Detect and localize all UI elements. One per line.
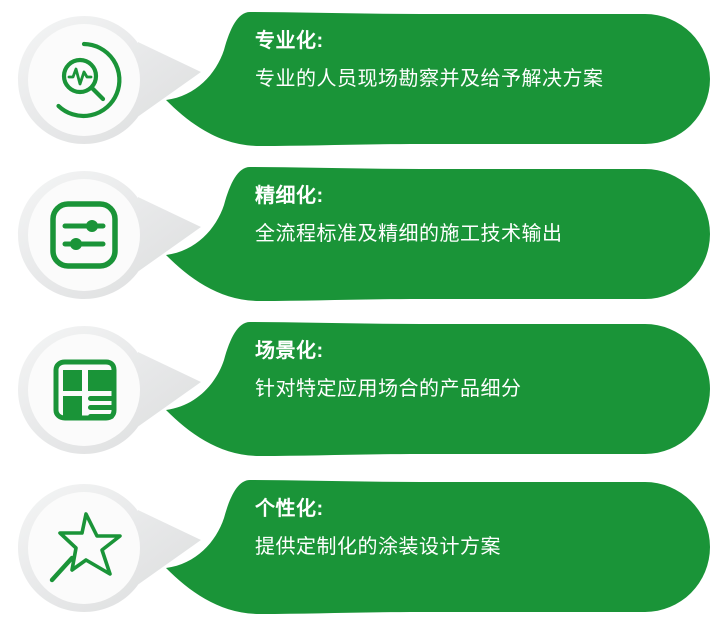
feature-text: 专业化: 专业的人员现场勘察并及给予解决方案 [255, 26, 695, 96]
feature-item-personalization[interactable]: 个性化: 提供定制化的涂装设计方案 [0, 472, 720, 622]
feature-title: 精细化: [255, 181, 695, 211]
magnifier-pulse-icon [42, 38, 126, 122]
feature-bubble: 个性化: 提供定制化的涂装设计方案 [160, 472, 720, 622]
feature-text: 个性化: 提供定制化的涂装设计方案 [255, 494, 695, 564]
layout-grid-icon [42, 348, 126, 432]
sliders-settings-icon [42, 193, 126, 277]
feature-bubble: 精细化: 全流程标准及精细的施工技术输出 [160, 159, 720, 309]
feature-description: 提供定制化的涂装设计方案 [255, 530, 695, 564]
features-infographic: 专业化: 专业的人员现场勘察并及给予解决方案 [0, 0, 720, 630]
magic-wand-star-icon [42, 506, 126, 590]
feature-description: 全流程标准及精细的施工技术输出 [255, 217, 695, 251]
feature-description: 针对特定应用场合的产品细分 [255, 372, 695, 406]
feature-title: 场景化: [255, 336, 695, 366]
feature-description: 专业的人员现场勘察并及给予解决方案 [255, 62, 695, 96]
feature-text: 精细化: 全流程标准及精细的施工技术输出 [255, 181, 695, 251]
feature-bubble: 场景化: 针对特定应用场合的产品细分 [160, 314, 720, 464]
feature-item-professionalization[interactable]: 专业化: 专业的人员现场勘察并及给予解决方案 [0, 4, 720, 154]
feature-item-refinement[interactable]: 精细化: 全流程标准及精细的施工技术输出 [0, 159, 720, 309]
feature-bubble: 专业化: 专业的人员现场勘察并及给予解决方案 [160, 4, 720, 154]
feature-item-scenarioization[interactable]: 场景化: 针对特定应用场合的产品细分 [0, 314, 720, 464]
feature-text: 场景化: 针对特定应用场合的产品细分 [255, 336, 695, 406]
feature-title: 个性化: [255, 494, 695, 524]
feature-title: 专业化: [255, 26, 695, 56]
